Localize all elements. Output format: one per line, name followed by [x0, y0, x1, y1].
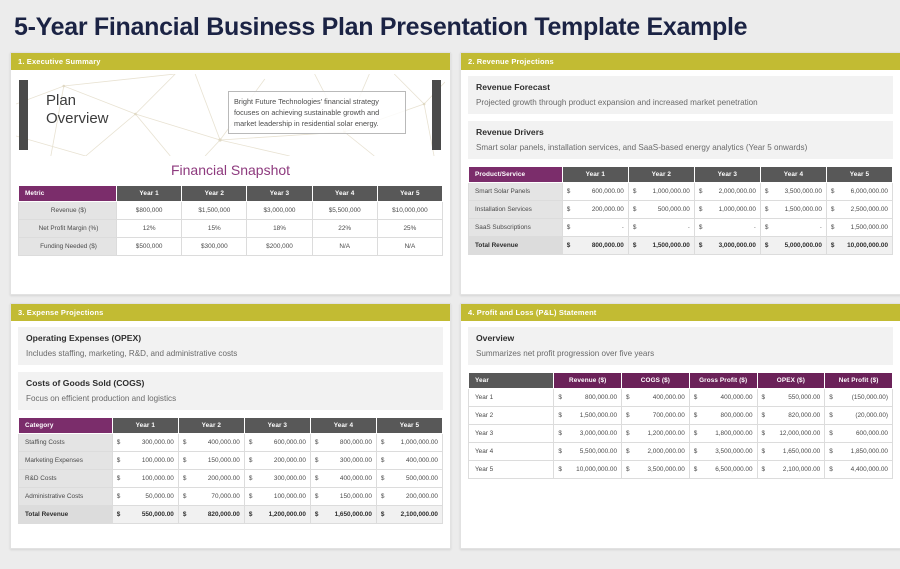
currency-symbol: $	[831, 224, 837, 231]
hero-banner: Plan Overview Bright Future Technologies…	[16, 74, 445, 156]
row-label: SaaS Subscriptions	[469, 218, 563, 236]
cell-amount: 800,000.00	[721, 412, 753, 419]
cell-amount: 1,800,000.00	[715, 430, 752, 437]
cell-value: $800,000.00	[689, 406, 757, 424]
cell-value: $2,000,000.00	[694, 182, 760, 200]
cell-amount: 150,000.00	[340, 493, 372, 500]
column-header-year-4: Year 4	[312, 185, 377, 201]
currency-symbol: $	[558, 430, 564, 437]
cell-value: $1,500,000.00	[826, 218, 892, 236]
cell-value: $200,000.00	[178, 469, 244, 487]
cell-value: $1,500,000.00	[628, 236, 694, 254]
cell-amount: 600,000.00	[856, 430, 888, 437]
cell-amount: 550,000.00	[142, 511, 174, 518]
cell-value: $10,000,000.00	[826, 236, 892, 254]
row-label: Year 4	[469, 442, 554, 460]
cell-value: $400,000.00	[622, 388, 690, 406]
cell-amount: 3,500,000.00	[647, 466, 684, 473]
cell-value: $820,000.00	[757, 406, 825, 424]
cell-value: $800,000.00	[310, 433, 376, 451]
currency-symbol: $	[381, 457, 387, 464]
cell-value: $1,800,000.00	[689, 424, 757, 442]
cell-value: $600,000.00	[244, 433, 310, 451]
cell-amount: 800,000.00	[585, 394, 617, 401]
cell-amount: 2,500,000.00	[851, 206, 888, 213]
cell-value: $400,000.00	[689, 388, 757, 406]
panel-header-executive-summary: 1. Executive Summary	[11, 53, 450, 70]
cell-value: $150,000.00	[178, 451, 244, 469]
column-header-net-profit: Net Profit ($)	[825, 372, 893, 388]
panel-revenue-projections: 2. Revenue Projections Revenue Forecast …	[460, 52, 900, 295]
currency-symbol: $	[381, 493, 387, 500]
profit-and-loss-table: Year Revenue ($) COGS ($) Gross Profit (…	[468, 372, 893, 479]
cell-amount: 800,000.00	[592, 242, 624, 249]
cell-value: $1,850,000.00	[825, 442, 893, 460]
column-header-year-3: Year 3	[244, 417, 310, 433]
cell-value: $700,000.00	[622, 406, 690, 424]
cell-value: $300,000.00	[112, 433, 178, 451]
cell-amount: 2,100,000.00	[401, 511, 438, 518]
cell-amount: 2,100,000.00	[783, 466, 820, 473]
callout-operating-expenses: Operating Expenses (OPEX) Includes staff…	[18, 327, 443, 365]
cell-value: $1,200,000.00	[244, 505, 310, 523]
cell-amount: 1,200,000.00	[269, 511, 306, 518]
cell-value: $500,000.00	[376, 469, 442, 487]
cell-amount: 1,650,000.00	[783, 448, 820, 455]
cell-value: 12%	[117, 219, 182, 237]
cell-value: $3,500,000.00	[760, 182, 826, 200]
cell-value: $(150,000.00)	[825, 388, 893, 406]
table-row: Funding Needed ($) $500,000 $300,000 $20…	[19, 237, 443, 255]
cell-value: $-	[694, 218, 760, 236]
cell-amount: 2,000,000.00	[719, 188, 756, 195]
callout-text: Smart solar panels, installation service…	[476, 143, 885, 152]
currency-symbol: $	[567, 242, 573, 249]
currency-symbol: $	[315, 511, 321, 518]
callout-title: Operating Expenses (OPEX)	[26, 333, 435, 343]
cell-amount: (20,000.00)	[855, 412, 888, 419]
currency-symbol: $	[117, 475, 123, 482]
table-row: Year 4 $5,500,000.00 $2,000,000.00 $3,50…	[469, 442, 893, 460]
cell-amount: 700,000.00	[653, 412, 685, 419]
table-row-total: Total Revenue $550,000.00 $820,000.00 $1…	[19, 505, 443, 523]
cell-value: $6,500,000.00	[689, 460, 757, 478]
column-header-year-2: Year 2	[178, 417, 244, 433]
currency-symbol: $	[762, 430, 768, 437]
currency-symbol: $	[117, 511, 123, 518]
cell-amount: 1,650,000.00	[335, 511, 372, 518]
cell-amount: 550,000.00	[788, 394, 820, 401]
row-label: Total Revenue	[19, 505, 113, 523]
cell-amount: 200,000.00	[274, 457, 306, 464]
cell-value: $3,000,000	[247, 201, 312, 219]
table-row: Year 1 $800,000.00 $400,000.00 $400,000.…	[469, 388, 893, 406]
cell-amount: 12,000,000.00	[779, 430, 820, 437]
cell-value: $2,500,000.00	[826, 200, 892, 218]
cell-amount: 500,000.00	[406, 475, 438, 482]
hero-title: Plan Overview	[46, 92, 109, 130]
currency-symbol: $	[183, 475, 189, 482]
currency-symbol: $	[765, 242, 771, 249]
cell-value: $3,000,000.00	[694, 236, 760, 254]
cell-amount: 3,000,000.00	[719, 242, 756, 249]
column-header-category: Category	[19, 417, 113, 433]
cell-amount: 1,000,000.00	[401, 439, 438, 446]
cell-amount: 10,000,000.00	[576, 466, 617, 473]
cell-amount: 70,000.00	[211, 493, 239, 500]
column-header-year-3: Year 3	[694, 166, 760, 182]
cell-value: $200,000.00	[376, 487, 442, 505]
cell-amount: 3,500,000.00	[715, 448, 752, 455]
cell-value: $300,000	[182, 237, 247, 255]
cell-value: $100,000.00	[112, 469, 178, 487]
row-label: Administrative Costs	[19, 487, 113, 505]
row-label: Marketing Expenses	[19, 451, 113, 469]
currency-symbol: $	[829, 412, 835, 419]
table-row: Staffing Costs $300,000.00 $400,000.00 $…	[19, 433, 443, 451]
currency-symbol: $	[381, 511, 387, 518]
table-row: Smart Solar Panels $600,000.00 $1,000,00…	[469, 182, 893, 200]
row-label: Year 3	[469, 424, 554, 442]
cell-amount: 300,000.00	[274, 475, 306, 482]
cell-amount: 200,000.00	[208, 475, 240, 482]
table-row: R&D Costs $100,000.00 $200,000.00 $300,0…	[19, 469, 443, 487]
currency-symbol: $	[765, 224, 771, 231]
cell-amount: 50,000.00	[145, 493, 173, 500]
callout-text: Includes staffing, marketing, R&D, and a…	[26, 349, 435, 358]
currency-symbol: $	[315, 439, 321, 446]
cell-value: 18%	[247, 219, 312, 237]
currency-symbol: $	[829, 394, 835, 401]
cell-value: $1,650,000.00	[310, 505, 376, 523]
cell-amount: 800,000.00	[340, 439, 372, 446]
table-row: Administrative Costs $50,000.00 $70,000.…	[19, 487, 443, 505]
currency-symbol: $	[762, 412, 768, 419]
currency-symbol: $	[315, 493, 321, 500]
column-header-gross-profit: Gross Profit ($)	[689, 372, 757, 388]
row-label: Staffing Costs	[19, 433, 113, 451]
column-header-year: Year	[469, 372, 554, 388]
panel-executive-summary: 1. Executive Summary	[10, 52, 451, 295]
row-label: Total Revenue	[469, 236, 563, 254]
column-header-year-5: Year 5	[826, 166, 892, 182]
callout-title: Costs of Goods Sold (COGS)	[26, 378, 435, 388]
currency-symbol: $	[831, 206, 837, 213]
cell-amount: -	[754, 224, 756, 231]
callout-overview: Overview Summarizes net profit progressi…	[468, 327, 893, 365]
currency-symbol: $	[381, 439, 387, 446]
currency-symbol: $	[117, 457, 123, 464]
callout-text: Projected growth through product expansi…	[476, 98, 885, 107]
currency-symbol: $	[762, 466, 768, 473]
column-header-year-1: Year 1	[112, 417, 178, 433]
cell-value: $4,400,000.00	[825, 460, 893, 478]
panel-header-profit-and-loss: 4. Profit and Loss (P&L) Statement	[461, 304, 900, 321]
cell-amount: 5,000,000.00	[785, 242, 822, 249]
currency-symbol: $	[633, 242, 639, 249]
currency-symbol: $	[765, 188, 771, 195]
currency-symbol: $	[633, 224, 639, 231]
currency-symbol: $	[381, 475, 387, 482]
currency-symbol: $	[699, 188, 705, 195]
currency-symbol: $	[117, 493, 123, 500]
hero-title-line-1: Plan	[46, 92, 109, 111]
table-header-row: Category Year 1 Year 2 Year 3 Year 4 Yea…	[19, 417, 443, 433]
cell-value: $3,500,000.00	[689, 442, 757, 460]
cell-value: $5,500,000.00	[554, 442, 622, 460]
hero-left-bar	[19, 80, 28, 150]
cell-value: $50,000.00	[112, 487, 178, 505]
cell-amount: 1,500,000.00	[851, 224, 888, 231]
cell-value: $(20,000.00)	[825, 406, 893, 424]
row-label: Funding Needed ($)	[19, 237, 117, 255]
currency-symbol: $	[762, 394, 768, 401]
column-header-metric: Metric	[19, 185, 117, 201]
currency-symbol: $	[626, 412, 632, 419]
cell-amount: 5,500,000.00	[580, 448, 617, 455]
cell-value: $500,000.00	[628, 200, 694, 218]
column-header-opex: OPEX ($)	[757, 372, 825, 388]
cell-value: 15%	[182, 219, 247, 237]
cell-amount: 400,000.00	[653, 394, 685, 401]
currency-symbol: $	[183, 493, 189, 500]
callout-revenue-forecast: Revenue Forecast Projected growth throug…	[468, 76, 893, 114]
cell-amount: 400,000.00	[406, 457, 438, 464]
currency-symbol: $	[829, 430, 835, 437]
column-header-year-4: Year 4	[310, 417, 376, 433]
column-header-cogs: COGS ($)	[622, 372, 690, 388]
currency-symbol: $	[558, 394, 564, 401]
cell-amount: 400,000.00	[340, 475, 372, 482]
callout-text: Focus on efficient production and logist…	[26, 394, 435, 403]
currency-symbol: $	[567, 206, 573, 213]
cell-amount: 400,000.00	[208, 439, 240, 446]
row-label: Year 5	[469, 460, 554, 478]
currency-symbol: $	[249, 493, 255, 500]
column-header-year-5: Year 5	[376, 417, 442, 433]
table-row-total: Total Revenue $800,000.00 $1,500,000.00 …	[469, 236, 893, 254]
cell-amount: 3,500,000.00	[785, 188, 822, 195]
cell-value: $3,500,000.00	[622, 460, 690, 478]
table-row: Year 5 $10,000,000.00 $3,500,000.00 $6,5…	[469, 460, 893, 478]
cell-value: $10,000,000.00	[554, 460, 622, 478]
cell-amount: 10,000,000.00	[847, 242, 888, 249]
currency-symbol: $	[694, 430, 700, 437]
cell-value: N/A	[377, 237, 442, 255]
cell-amount: 300,000.00	[340, 457, 372, 464]
currency-symbol: $	[626, 466, 632, 473]
cell-value: $400,000.00	[376, 451, 442, 469]
column-header-product-service: Product/Service	[469, 166, 563, 182]
cell-value: $100,000.00	[112, 451, 178, 469]
panel-profit-and-loss: 4. Profit and Loss (P&L) Statement Overv…	[460, 303, 900, 549]
cell-amount: 6,000,000.00	[851, 188, 888, 195]
cell-value: $550,000.00	[757, 388, 825, 406]
table-header-row: Year Revenue ($) COGS ($) Gross Profit (…	[469, 372, 893, 388]
table-row: SaaS Subscriptions $- $- $- $- $1,500,00…	[469, 218, 893, 236]
cell-value: $300,000.00	[244, 469, 310, 487]
cell-value: $400,000.00	[178, 433, 244, 451]
cell-value: $600,000.00	[825, 424, 893, 442]
cell-value: $5,500,000	[312, 201, 377, 219]
cell-amount: 4,400,000.00	[851, 466, 888, 473]
table-row: Year 2 $1,500,000.00 $700,000.00 $800,00…	[469, 406, 893, 424]
cell-value: $10,000,000	[377, 201, 442, 219]
cell-amount: 400,000.00	[721, 394, 753, 401]
table-row: Revenue ($) $800,000 $1,500,000 $3,000,0…	[19, 201, 443, 219]
cell-value: $6,000,000.00	[826, 182, 892, 200]
currency-symbol: $	[694, 394, 700, 401]
cell-value: $600,000.00	[562, 182, 628, 200]
currency-symbol: $	[315, 457, 321, 464]
currency-symbol: $	[315, 475, 321, 482]
cell-value: $550,000.00	[112, 505, 178, 523]
table-header-row: Metric Year 1 Year 2 Year 3 Year 4 Year …	[19, 185, 443, 201]
currency-symbol: $	[699, 224, 705, 231]
cell-amount: 300,000.00	[142, 439, 174, 446]
column-header-year-1: Year 1	[117, 185, 182, 201]
currency-symbol: $	[249, 457, 255, 464]
cell-amount: 1,500,000.00	[580, 412, 617, 419]
revenue-projections-table: Product/Service Year 1 Year 2 Year 3 Yea…	[468, 166, 893, 255]
currency-symbol: $	[626, 448, 632, 455]
expense-projections-table: Category Year 1 Year 2 Year 3 Year 4 Yea…	[18, 417, 443, 524]
callout-cogs: Costs of Goods Sold (COGS) Focus on effi…	[18, 372, 443, 410]
cell-value: $820,000.00	[178, 505, 244, 523]
currency-symbol: $	[829, 448, 835, 455]
cell-value: $2,000,000.00	[622, 442, 690, 460]
cell-value: $12,000,000.00	[757, 424, 825, 442]
column-header-revenue: Revenue ($)	[554, 372, 622, 388]
financial-snapshot-title: Financial Snapshot	[11, 162, 450, 178]
cell-amount: 6,500,000.00	[715, 466, 752, 473]
cell-value: $1,000,000.00	[376, 433, 442, 451]
cell-value: N/A	[312, 237, 377, 255]
cell-value: $800,000.00	[554, 388, 622, 406]
column-header-year-1: Year 1	[562, 166, 628, 182]
callout-title: Overview	[476, 333, 885, 343]
cell-value: $-	[628, 218, 694, 236]
hero-right-bar	[432, 80, 441, 150]
currency-symbol: $	[558, 448, 564, 455]
panel-expense-projections: 3. Expense Projections Operating Expense…	[10, 303, 451, 549]
cell-amount: 820,000.00	[788, 412, 820, 419]
cell-amount: 820,000.00	[208, 511, 240, 518]
row-label: R&D Costs	[19, 469, 113, 487]
currency-symbol: $	[249, 439, 255, 446]
cell-value: $1,500,000.00	[760, 200, 826, 218]
cell-amount: 3,000,000.00	[580, 430, 617, 437]
cell-amount: 500,000.00	[658, 206, 690, 213]
row-label: Year 2	[469, 406, 554, 424]
currency-symbol: $	[762, 448, 768, 455]
currency-symbol: $	[183, 457, 189, 464]
cell-value: $300,000.00	[310, 451, 376, 469]
row-label: Smart Solar Panels	[469, 182, 563, 200]
currency-symbol: $	[117, 439, 123, 446]
currency-symbol: $	[183, 511, 189, 518]
cell-value: $1,500,000	[182, 201, 247, 219]
cell-value: $150,000.00	[310, 487, 376, 505]
hero-quote-box: Bright Future Technologies' financial st…	[228, 91, 406, 135]
currency-symbol: $	[694, 466, 700, 473]
currency-symbol: $	[633, 188, 639, 195]
cell-value: $400,000.00	[310, 469, 376, 487]
column-header-year-2: Year 2	[628, 166, 694, 182]
financial-snapshot-table: Metric Year 1 Year 2 Year 3 Year 4 Year …	[18, 185, 443, 256]
cell-value: 22%	[312, 219, 377, 237]
panel-grid: 1. Executive Summary	[0, 42, 900, 549]
cell-amount: 1,500,000.00	[785, 206, 822, 213]
cell-amount: -	[622, 224, 624, 231]
column-header-year-2: Year 2	[182, 185, 247, 201]
column-header-year-3: Year 3	[247, 185, 312, 201]
cell-amount: 1,000,000.00	[719, 206, 756, 213]
table-row: Installation Services $200,000.00 $500,0…	[469, 200, 893, 218]
cell-amount: 2,000,000.00	[647, 448, 684, 455]
cell-value: 25%	[377, 219, 442, 237]
cell-value: $100,000.00	[244, 487, 310, 505]
cell-value: $200,000.00	[562, 200, 628, 218]
panel-header-revenue-projections: 2. Revenue Projections	[461, 53, 900, 70]
page-title: 5-Year Financial Business Plan Presentat…	[0, 0, 900, 42]
cell-amount: 1,500,000.00	[653, 242, 690, 249]
currency-symbol: $	[829, 466, 835, 473]
currency-symbol: $	[558, 412, 564, 419]
cell-value: $1,650,000.00	[757, 442, 825, 460]
cell-value: $1,000,000.00	[694, 200, 760, 218]
cell-value: $800,000.00	[562, 236, 628, 254]
callout-title: Revenue Drivers	[476, 127, 885, 137]
row-label: Installation Services	[469, 200, 563, 218]
currency-symbol: $	[699, 242, 705, 249]
cell-value: $1,000,000.00	[628, 182, 694, 200]
cell-value: $2,100,000.00	[757, 460, 825, 478]
currency-symbol: $	[831, 242, 837, 249]
hero-title-line-2: Overview	[46, 110, 109, 129]
cell-amount: 100,000.00	[142, 457, 174, 464]
cell-amount: 150,000.00	[208, 457, 240, 464]
cell-amount: 100,000.00	[274, 493, 306, 500]
cell-value: $70,000.00	[178, 487, 244, 505]
cell-amount: 600,000.00	[274, 439, 306, 446]
cell-value: $-	[562, 218, 628, 236]
callout-revenue-drivers: Revenue Drivers Smart solar panels, inst…	[468, 121, 893, 159]
cell-value: $200,000.00	[244, 451, 310, 469]
column-header-year-4: Year 4	[760, 166, 826, 182]
currency-symbol: $	[765, 206, 771, 213]
currency-symbol: $	[249, 475, 255, 482]
cell-amount: -	[688, 224, 690, 231]
cell-amount: 600,000.00	[592, 188, 624, 195]
currency-symbol: $	[699, 206, 705, 213]
cell-value: $200,000	[247, 237, 312, 255]
currency-symbol: $	[626, 430, 632, 437]
row-label: Net Profit Margin (%)	[19, 219, 117, 237]
callout-title: Revenue Forecast	[476, 82, 885, 92]
table-header-row: Product/Service Year 1 Year 2 Year 3 Yea…	[469, 166, 893, 182]
table-row: Marketing Expenses $100,000.00 $150,000.…	[19, 451, 443, 469]
currency-symbol: $	[694, 448, 700, 455]
currency-symbol: $	[183, 439, 189, 446]
currency-symbol: $	[626, 394, 632, 401]
cell-amount: 1,850,000.00	[851, 448, 888, 455]
currency-symbol: $	[249, 511, 255, 518]
cell-amount: -	[820, 224, 822, 231]
currency-symbol: $	[694, 412, 700, 419]
currency-symbol: $	[633, 206, 639, 213]
cell-amount: 200,000.00	[592, 206, 624, 213]
